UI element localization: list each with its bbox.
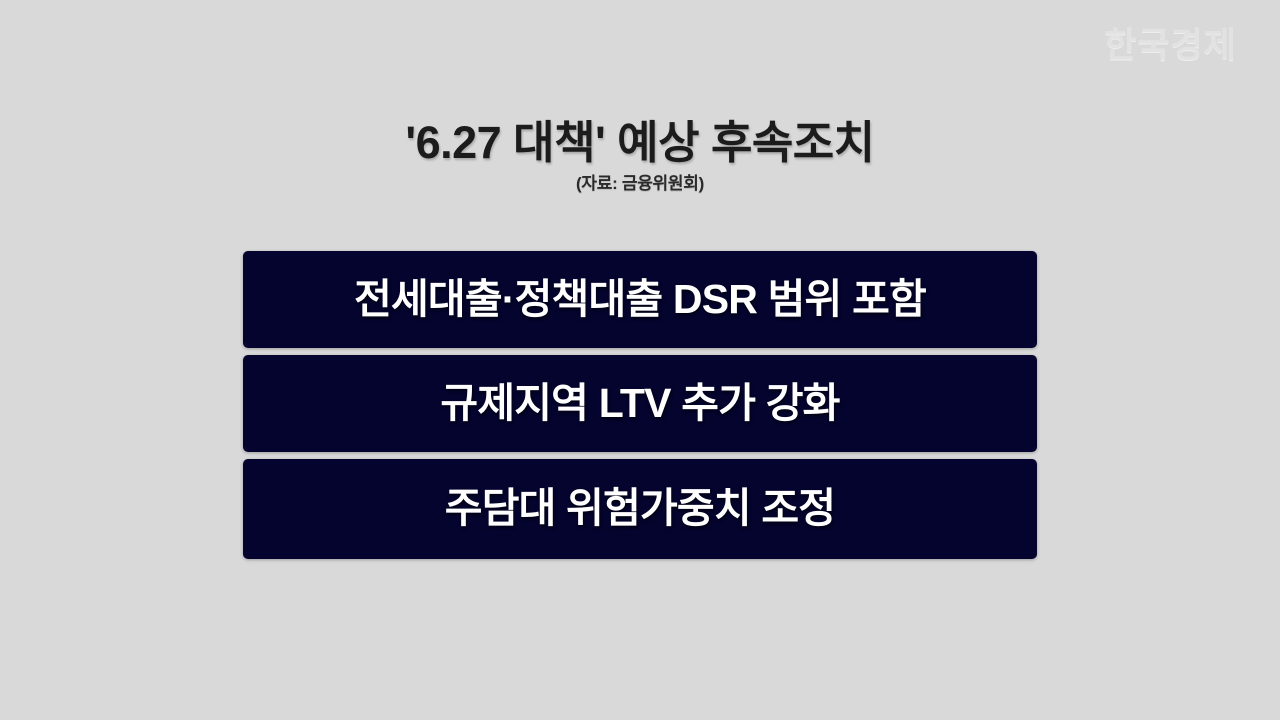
broadcast-graphic-stage: 한국경제 '6.27 대책' 예상 후속조치 (자료: 금융위원회) 전세대출·… bbox=[0, 0, 1280, 720]
measure-panel-list: 전세대출·정책대출 DSR 범위 포함 규제지역 LTV 추가 강화 주담대 위… bbox=[243, 251, 1037, 559]
data-source-note: (자료: 금융위원회) bbox=[0, 175, 1280, 194]
page-title: '6.27 대책' 예상 후속조치 bbox=[0, 118, 1280, 168]
panel-label: 규제지역 LTV 추가 강화 bbox=[440, 381, 839, 426]
list-item: 전세대출·정책대출 DSR 범위 포함 bbox=[243, 251, 1037, 348]
list-item: 주담대 위험가중치 조정 bbox=[243, 459, 1037, 559]
list-item: 규제지역 LTV 추가 강화 bbox=[243, 355, 1037, 452]
panel-label: 주담대 위험가중치 조정 bbox=[445, 486, 835, 531]
title-block: '6.27 대책' 예상 후속조치 (자료: 금융위원회) bbox=[0, 118, 1280, 194]
panel-label: 전세대출·정책대출 DSR 범위 포함 bbox=[354, 277, 926, 322]
broadcaster-logo: 한국경제 bbox=[1104, 28, 1237, 63]
